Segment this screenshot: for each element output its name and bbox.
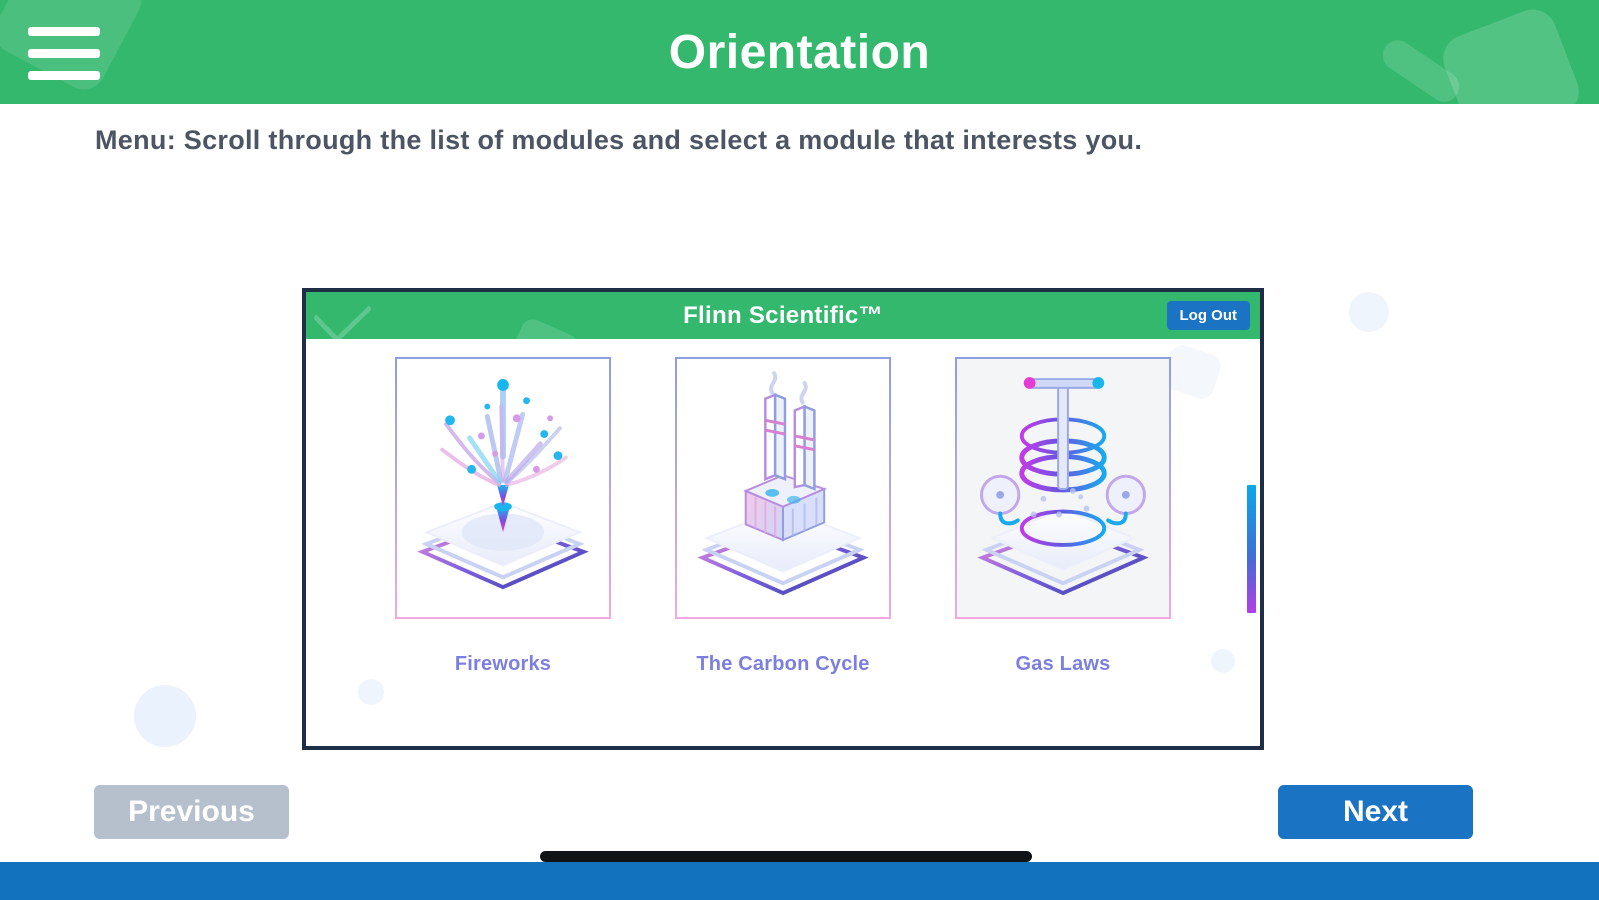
module-label: The Carbon Cycle — [675, 653, 891, 676]
module-card-fireworks[interactable]: Fireworks — [395, 357, 611, 750]
module-card-the-carbon-cycle[interactable]: The Carbon Cycle — [675, 357, 891, 750]
factory-icon — [677, 359, 889, 617]
fireworks-icon — [397, 359, 609, 617]
gas-piston-icon — [957, 359, 1169, 617]
page-title: Orientation — [0, 0, 1599, 104]
module-thumbnail — [395, 357, 611, 619]
hamburger-bar — [28, 49, 100, 58]
module-selection-panel: Flinn Scientific™ Log Out — [302, 288, 1264, 750]
app-header: Orientation — [0, 0, 1599, 104]
module-thumbnail — [955, 357, 1171, 619]
home-indicator — [540, 851, 1032, 862]
module-grid: Fireworks — [306, 339, 1260, 750]
panel-scrollbar-thumb[interactable] — [1247, 485, 1256, 613]
device-bottom-bar — [0, 862, 1599, 900]
log-out-button[interactable]: Log Out — [1167, 301, 1250, 330]
module-label: Fireworks — [395, 653, 611, 676]
hamburger-menu-icon[interactable] — [28, 22, 106, 84]
background-circle-decoration — [1349, 292, 1389, 332]
module-thumbnail — [675, 357, 891, 619]
panel-scrollbar-track[interactable] — [1249, 339, 1258, 750]
instruction-text: Menu: Scroll through the list of modules… — [95, 125, 1495, 156]
next-button[interactable]: Next — [1278, 785, 1473, 839]
background-circle-decoration — [134, 685, 196, 747]
panel-title: Flinn Scientific™ — [306, 292, 1260, 339]
panel-body: Fireworks — [306, 339, 1260, 750]
module-card-gas-laws[interactable]: Gas Laws — [955, 357, 1171, 750]
module-label: Gas Laws — [955, 653, 1171, 676]
panel-header: Flinn Scientific™ Log Out — [306, 292, 1260, 339]
previous-button[interactable]: Previous — [94, 785, 289, 839]
hamburger-bar — [28, 71, 100, 80]
hamburger-bar — [28, 27, 100, 36]
